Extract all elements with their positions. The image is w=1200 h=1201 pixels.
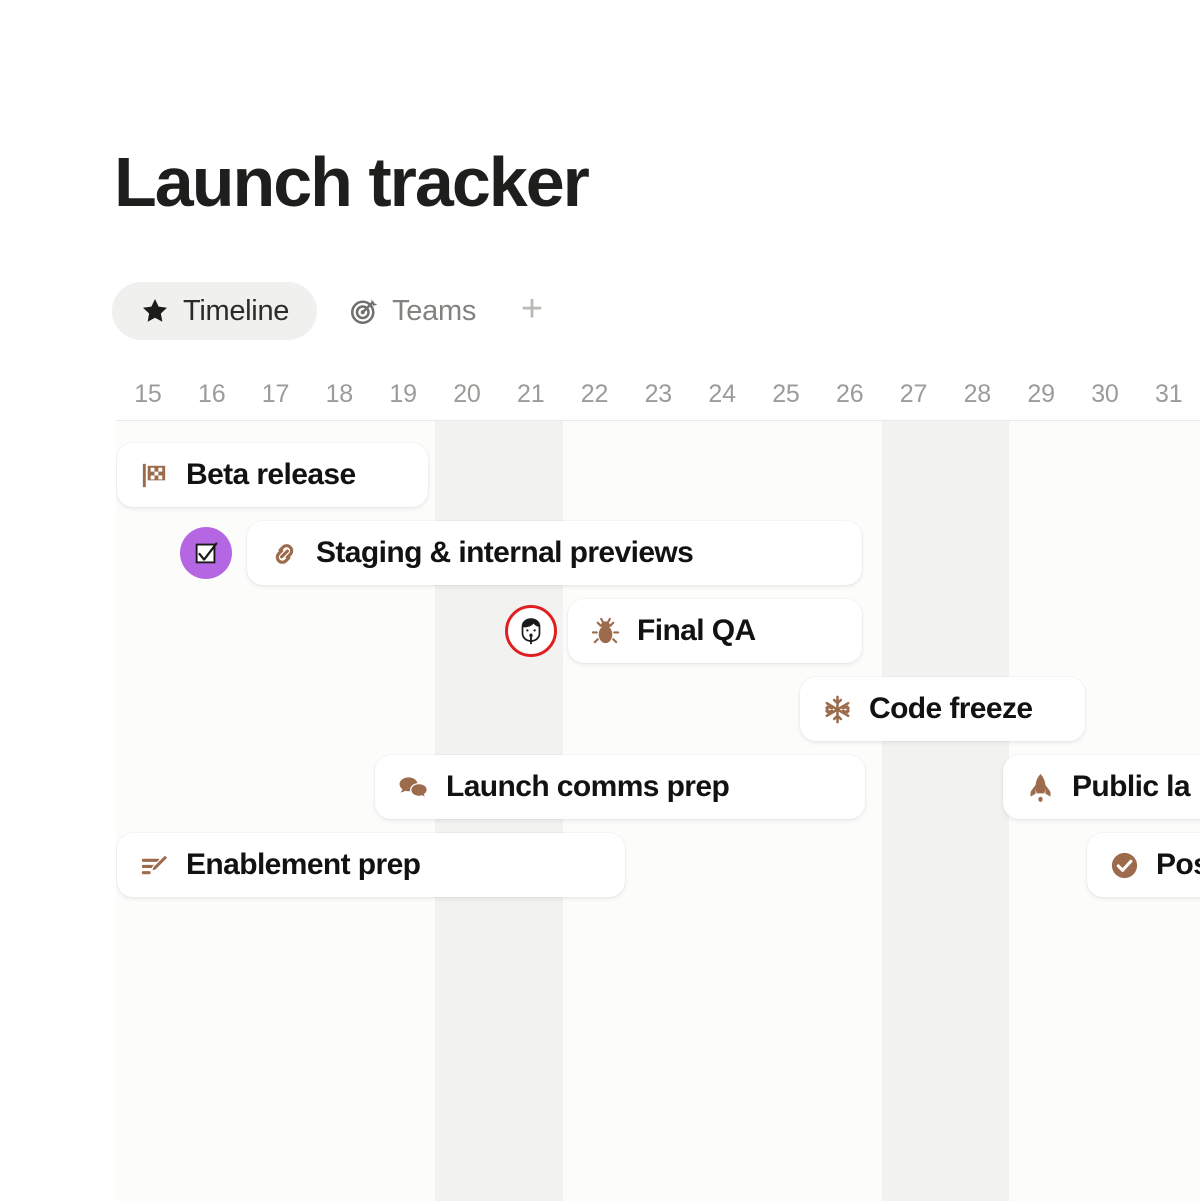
day-label-20: 20 [435, 380, 499, 409]
task-bar-final-qa[interactable]: Final QA [568, 599, 862, 663]
tab-timeline-label: Timeline [183, 295, 289, 328]
day-label-26: 26 [818, 380, 882, 409]
task-bar-label: Staging & internal previews [316, 536, 693, 570]
snowflake-icon [822, 694, 853, 725]
task-bar-label: Beta release [186, 458, 356, 492]
day-label-29: 29 [1009, 380, 1073, 409]
memo-icon [139, 850, 170, 881]
task-bar-enablement-prep[interactable]: Enablement prep [117, 833, 625, 897]
tab-bar: Timeline Teams + [112, 281, 556, 341]
tab-teams[interactable]: Teams [321, 282, 504, 340]
task-bar-beta-release[interactable]: Beta release [117, 443, 428, 507]
task-bar-launch-comms-prep[interactable]: Launch comms prep [375, 755, 865, 819]
tab-teams-label: Teams [392, 295, 476, 328]
task-bar-label: Public la [1072, 770, 1190, 804]
task-bar-label: Final QA [637, 614, 756, 648]
task-bar-label: Launch comms prep [446, 770, 729, 804]
shushing-face-icon [514, 614, 548, 648]
day-label-18: 18 [307, 380, 371, 409]
target-icon [349, 296, 379, 326]
timeline-row: Code freeze [116, 677, 1200, 741]
day-label-16: 16 [180, 380, 244, 409]
check-circle-icon [1109, 850, 1140, 881]
task-bar-post-launch[interactable]: Pos [1087, 833, 1200, 897]
task-bar-label: Pos [1156, 848, 1200, 882]
timeline-row: Launch comms prep Public la [116, 755, 1200, 819]
launch-tracker-page: Launch tracker Timeline Teams [0, 0, 1200, 1200]
day-label-23: 23 [626, 380, 690, 409]
task-bar-label: Code freeze [869, 692, 1032, 726]
star-icon [140, 296, 170, 326]
task-bar-code-freeze[interactable]: Code freeze [800, 677, 1085, 741]
timeline-day-header: 15 16 17 18 19 20 21 22 23 24 25 26 27 2… [116, 380, 1200, 420]
day-label-21: 21 [499, 380, 563, 409]
bug-icon [590, 616, 621, 647]
day-label-24: 24 [690, 380, 754, 409]
day-label-31: 31 [1137, 380, 1200, 409]
assignee-badge-purple[interactable] [180, 527, 232, 579]
task-bar-staging-internal-previews[interactable]: Staging & internal previews [247, 521, 862, 585]
task-bar-public-launch[interactable]: Public la [1003, 755, 1200, 819]
day-label-22: 22 [563, 380, 627, 409]
speech-balloons-icon [397, 772, 430, 803]
link-icon [269, 538, 300, 569]
timeline-row: Final QA [116, 599, 1200, 663]
tab-timeline[interactable]: Timeline [112, 282, 317, 340]
day-label-15: 15 [116, 380, 180, 409]
task-bar-label: Enablement prep [186, 848, 420, 882]
rocket-icon [1025, 772, 1056, 803]
day-label-19: 19 [371, 380, 435, 409]
day-label-28: 28 [945, 380, 1009, 409]
timeline-grid: 15 16 17 18 19 20 21 22 23 24 25 26 27 2… [116, 380, 1200, 1200]
checkered-flag-icon [139, 460, 170, 491]
add-tab-button[interactable]: + [508, 282, 556, 340]
day-label-27: 27 [882, 380, 946, 409]
timeline-row: Beta release [116, 443, 1200, 507]
ballot-box-with-check-icon [191, 538, 221, 568]
day-label-25: 25 [754, 380, 818, 409]
day-label-17: 17 [244, 380, 308, 409]
timeline-row: Enablement prep Pos [116, 833, 1200, 897]
day-label-30: 30 [1073, 380, 1137, 409]
page-title: Launch tracker [114, 137, 588, 227]
timeline-row: Staging & internal previews [116, 521, 1200, 585]
assignee-badge-red[interactable] [505, 605, 557, 657]
timeline-body: Beta release [116, 420, 1200, 1201]
